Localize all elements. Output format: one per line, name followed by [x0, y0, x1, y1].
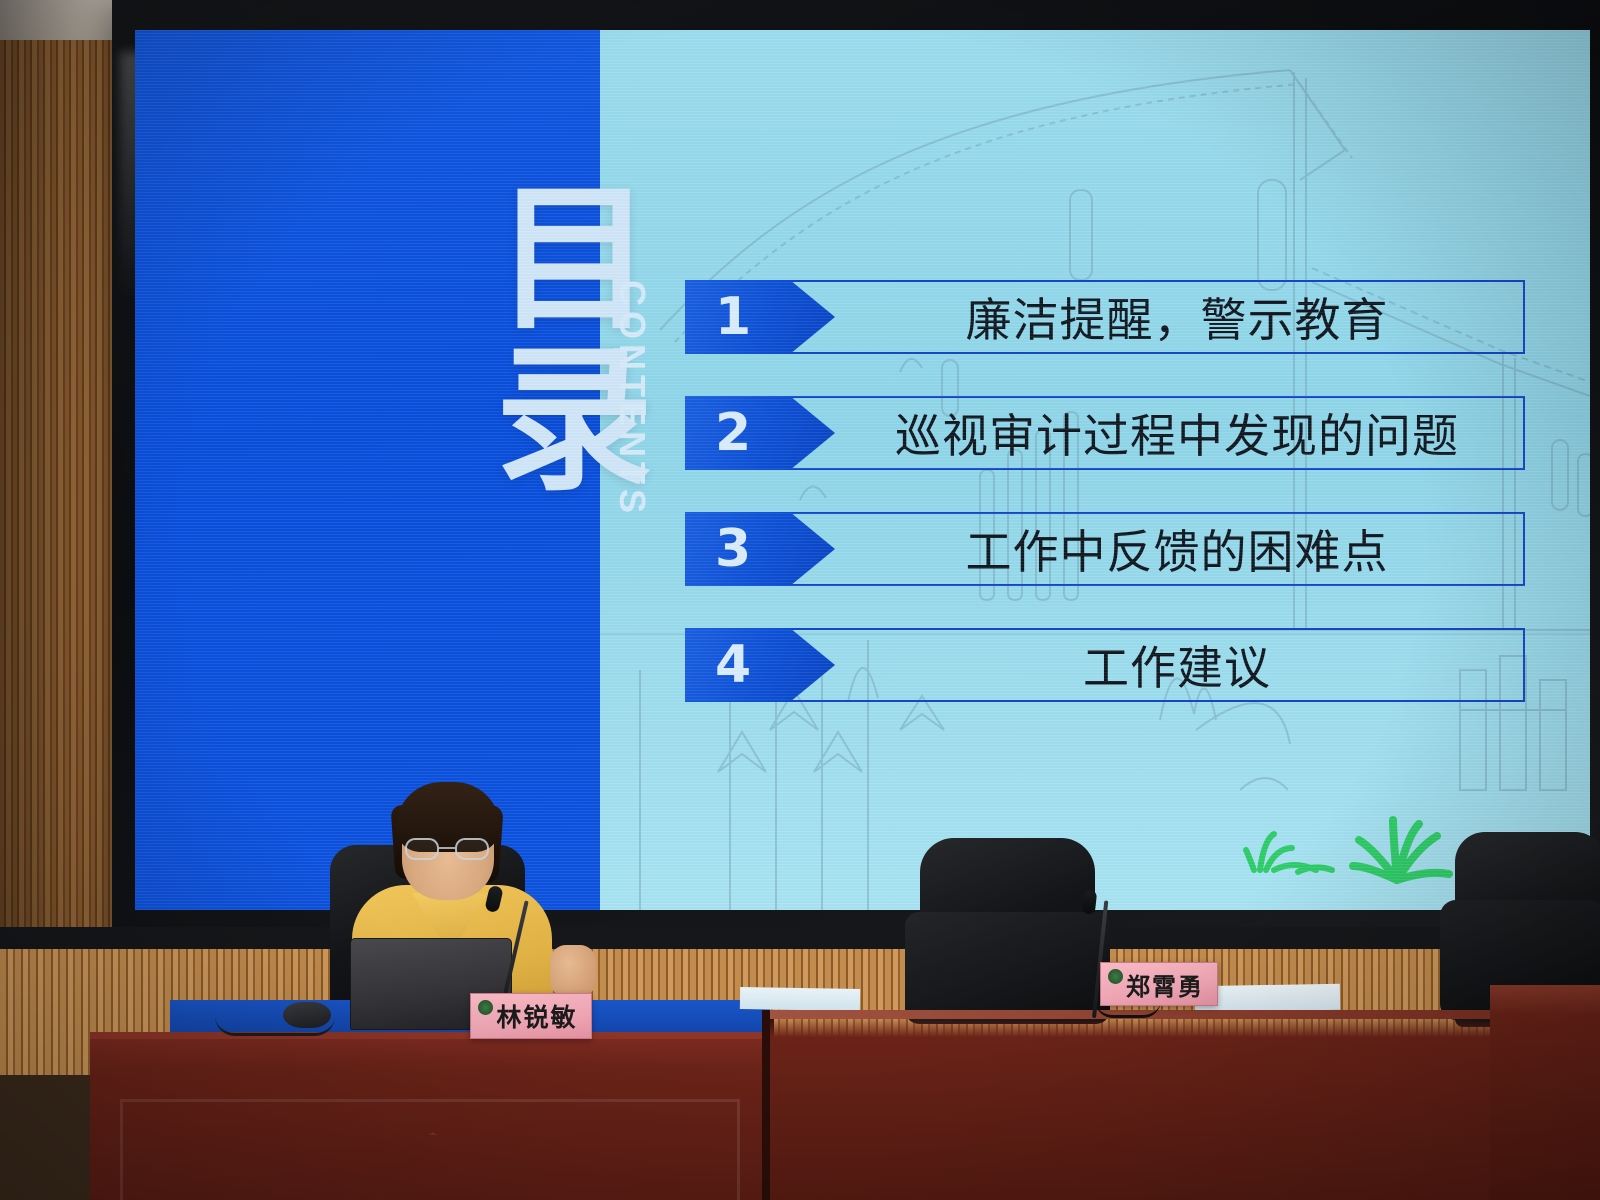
wall-shadow-left — [0, 0, 130, 1060]
list-item-label: 巡视审计过程中发现的问题 — [845, 396, 1509, 470]
presenter-hand — [550, 945, 596, 997]
list-item[interactable]: 3 工作中反馈的困难点 — [685, 512, 1525, 586]
podium-desk — [90, 1032, 770, 1200]
nameplate: 郑霄勇 — [1100, 962, 1218, 1006]
list-item[interactable]: 2 巡视审计过程中发现的问题 — [685, 396, 1525, 470]
office-chair-seat — [905, 912, 1110, 1024]
presentation-slide: 目录 CONTENTS 1 廉洁提醒，警示教育 2 巡视审计过程中发现的问题 — [135, 30, 1590, 910]
list-item-number: 1 — [715, 291, 751, 343]
list-item-number: 2 — [715, 407, 751, 459]
nameplate-text: 郑霄勇 — [1126, 967, 1204, 1002]
seal-icon — [1108, 969, 1123, 984]
glasses-bridge — [439, 847, 455, 849]
list-item[interactable]: 1 廉洁提醒，警示教育 — [685, 280, 1525, 354]
desk-panel-moulding — [120, 1099, 740, 1200]
nameplate-text: 林锐敏 — [496, 998, 577, 1034]
seal-icon — [478, 1000, 493, 1015]
list-item-number: 4 — [715, 639, 751, 691]
grass-tuft-icon — [1345, 800, 1465, 886]
conference-desk — [1490, 985, 1600, 1200]
list-item-label: 廉洁提醒，警示教育 — [845, 280, 1509, 354]
conference-room-scene: 目录 CONTENTS 1 廉洁提醒，警示教育 2 巡视审计过程中发现的问题 — [0, 0, 1600, 1200]
list-item-label: 工作建议 — [845, 628, 1509, 702]
slide-title-group: 目录 CONTENTS — [385, 180, 725, 520]
documents — [740, 987, 860, 1011]
conference-desk — [770, 1010, 1530, 1200]
list-item-number: 3 — [715, 523, 751, 575]
mouse-device — [283, 1002, 331, 1028]
glasses-icon — [405, 838, 493, 860]
glasses-lens — [455, 838, 489, 860]
list-item[interactable]: 4 工作建议 — [685, 628, 1525, 702]
list-item-label: 工作中反馈的困难点 — [845, 512, 1509, 586]
glasses-lens — [405, 838, 439, 860]
page-title-en: CONTENTS — [611, 280, 653, 518]
nameplate: 林锐敏 — [470, 993, 592, 1039]
contents-list: 1 廉洁提醒，警示教育 2 巡视审计过程中发现的问题 3 工作中反馈的困难点 — [685, 280, 1525, 744]
grass-tuft-icon — [1240, 820, 1350, 876]
